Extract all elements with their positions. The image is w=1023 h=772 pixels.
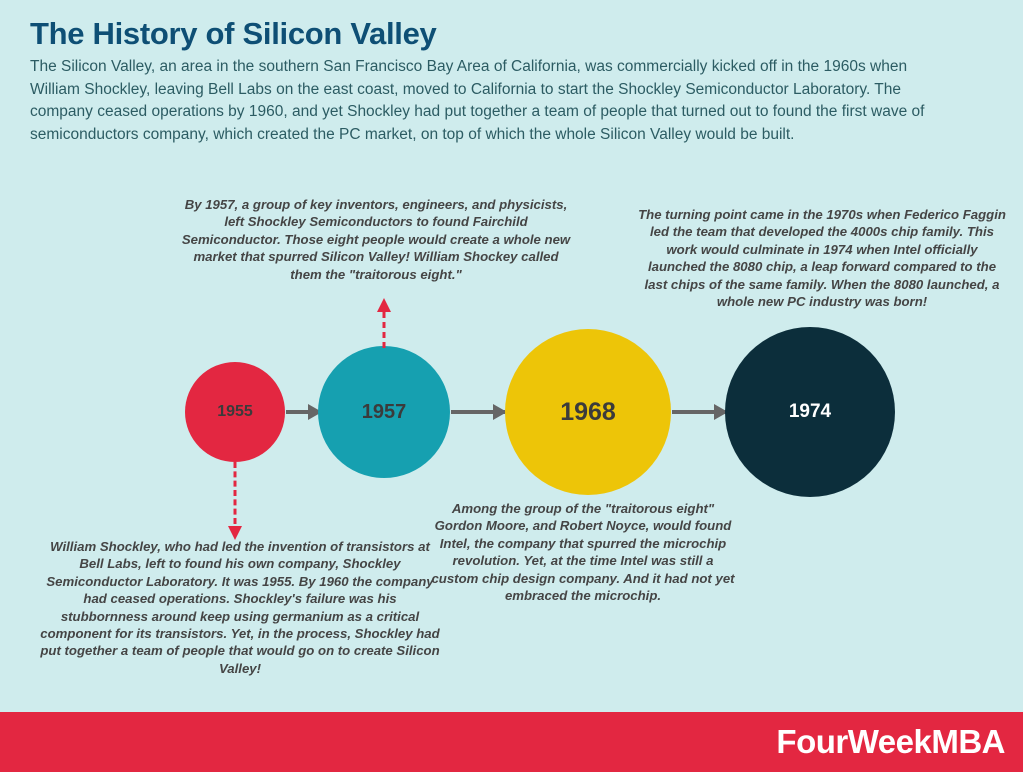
callout-arrow-head — [377, 298, 391, 312]
annotation-1957: By 1957, a group of key inventors, engin… — [176, 196, 576, 283]
connector-arrow-1957-to-1968 — [451, 410, 505, 414]
callout-arrow-line — [383, 312, 386, 348]
annotation-1968: Among the group of the "traitorous eight… — [428, 500, 738, 604]
timeline-node-1957[interactable]: 1957 — [318, 346, 450, 478]
timeline-node-1955[interactable]: 1955 — [185, 362, 285, 462]
annotation-1974: The turning point came in the 1970s when… — [636, 206, 1008, 310]
intro-paragraph: The Silicon Valley, an area in the south… — [30, 56, 940, 146]
footer-band: FourWeekMBA — [0, 712, 1023, 772]
annotation-1955: William Shockley, who had led the invent… — [40, 538, 440, 677]
callout-arrow-up-icon — [370, 298, 398, 348]
timeline-node-1974[interactable]: 1974 — [725, 327, 895, 497]
infographic-canvas: The History of Silicon Valley The Silico… — [0, 0, 1023, 772]
callout-arrow-head — [228, 526, 242, 540]
connector-arrow-1968-to-1974 — [672, 410, 726, 414]
callout-arrow-line — [234, 462, 237, 524]
callout-arrow-down-icon — [221, 462, 249, 540]
brand-logo-text: FourWeekMBA — [776, 723, 1005, 761]
connector-arrow-1955-to-1957 — [286, 410, 320, 414]
timeline-node-1968[interactable]: 1968 — [505, 329, 671, 495]
page-title: The History of Silicon Valley — [30, 16, 436, 52]
